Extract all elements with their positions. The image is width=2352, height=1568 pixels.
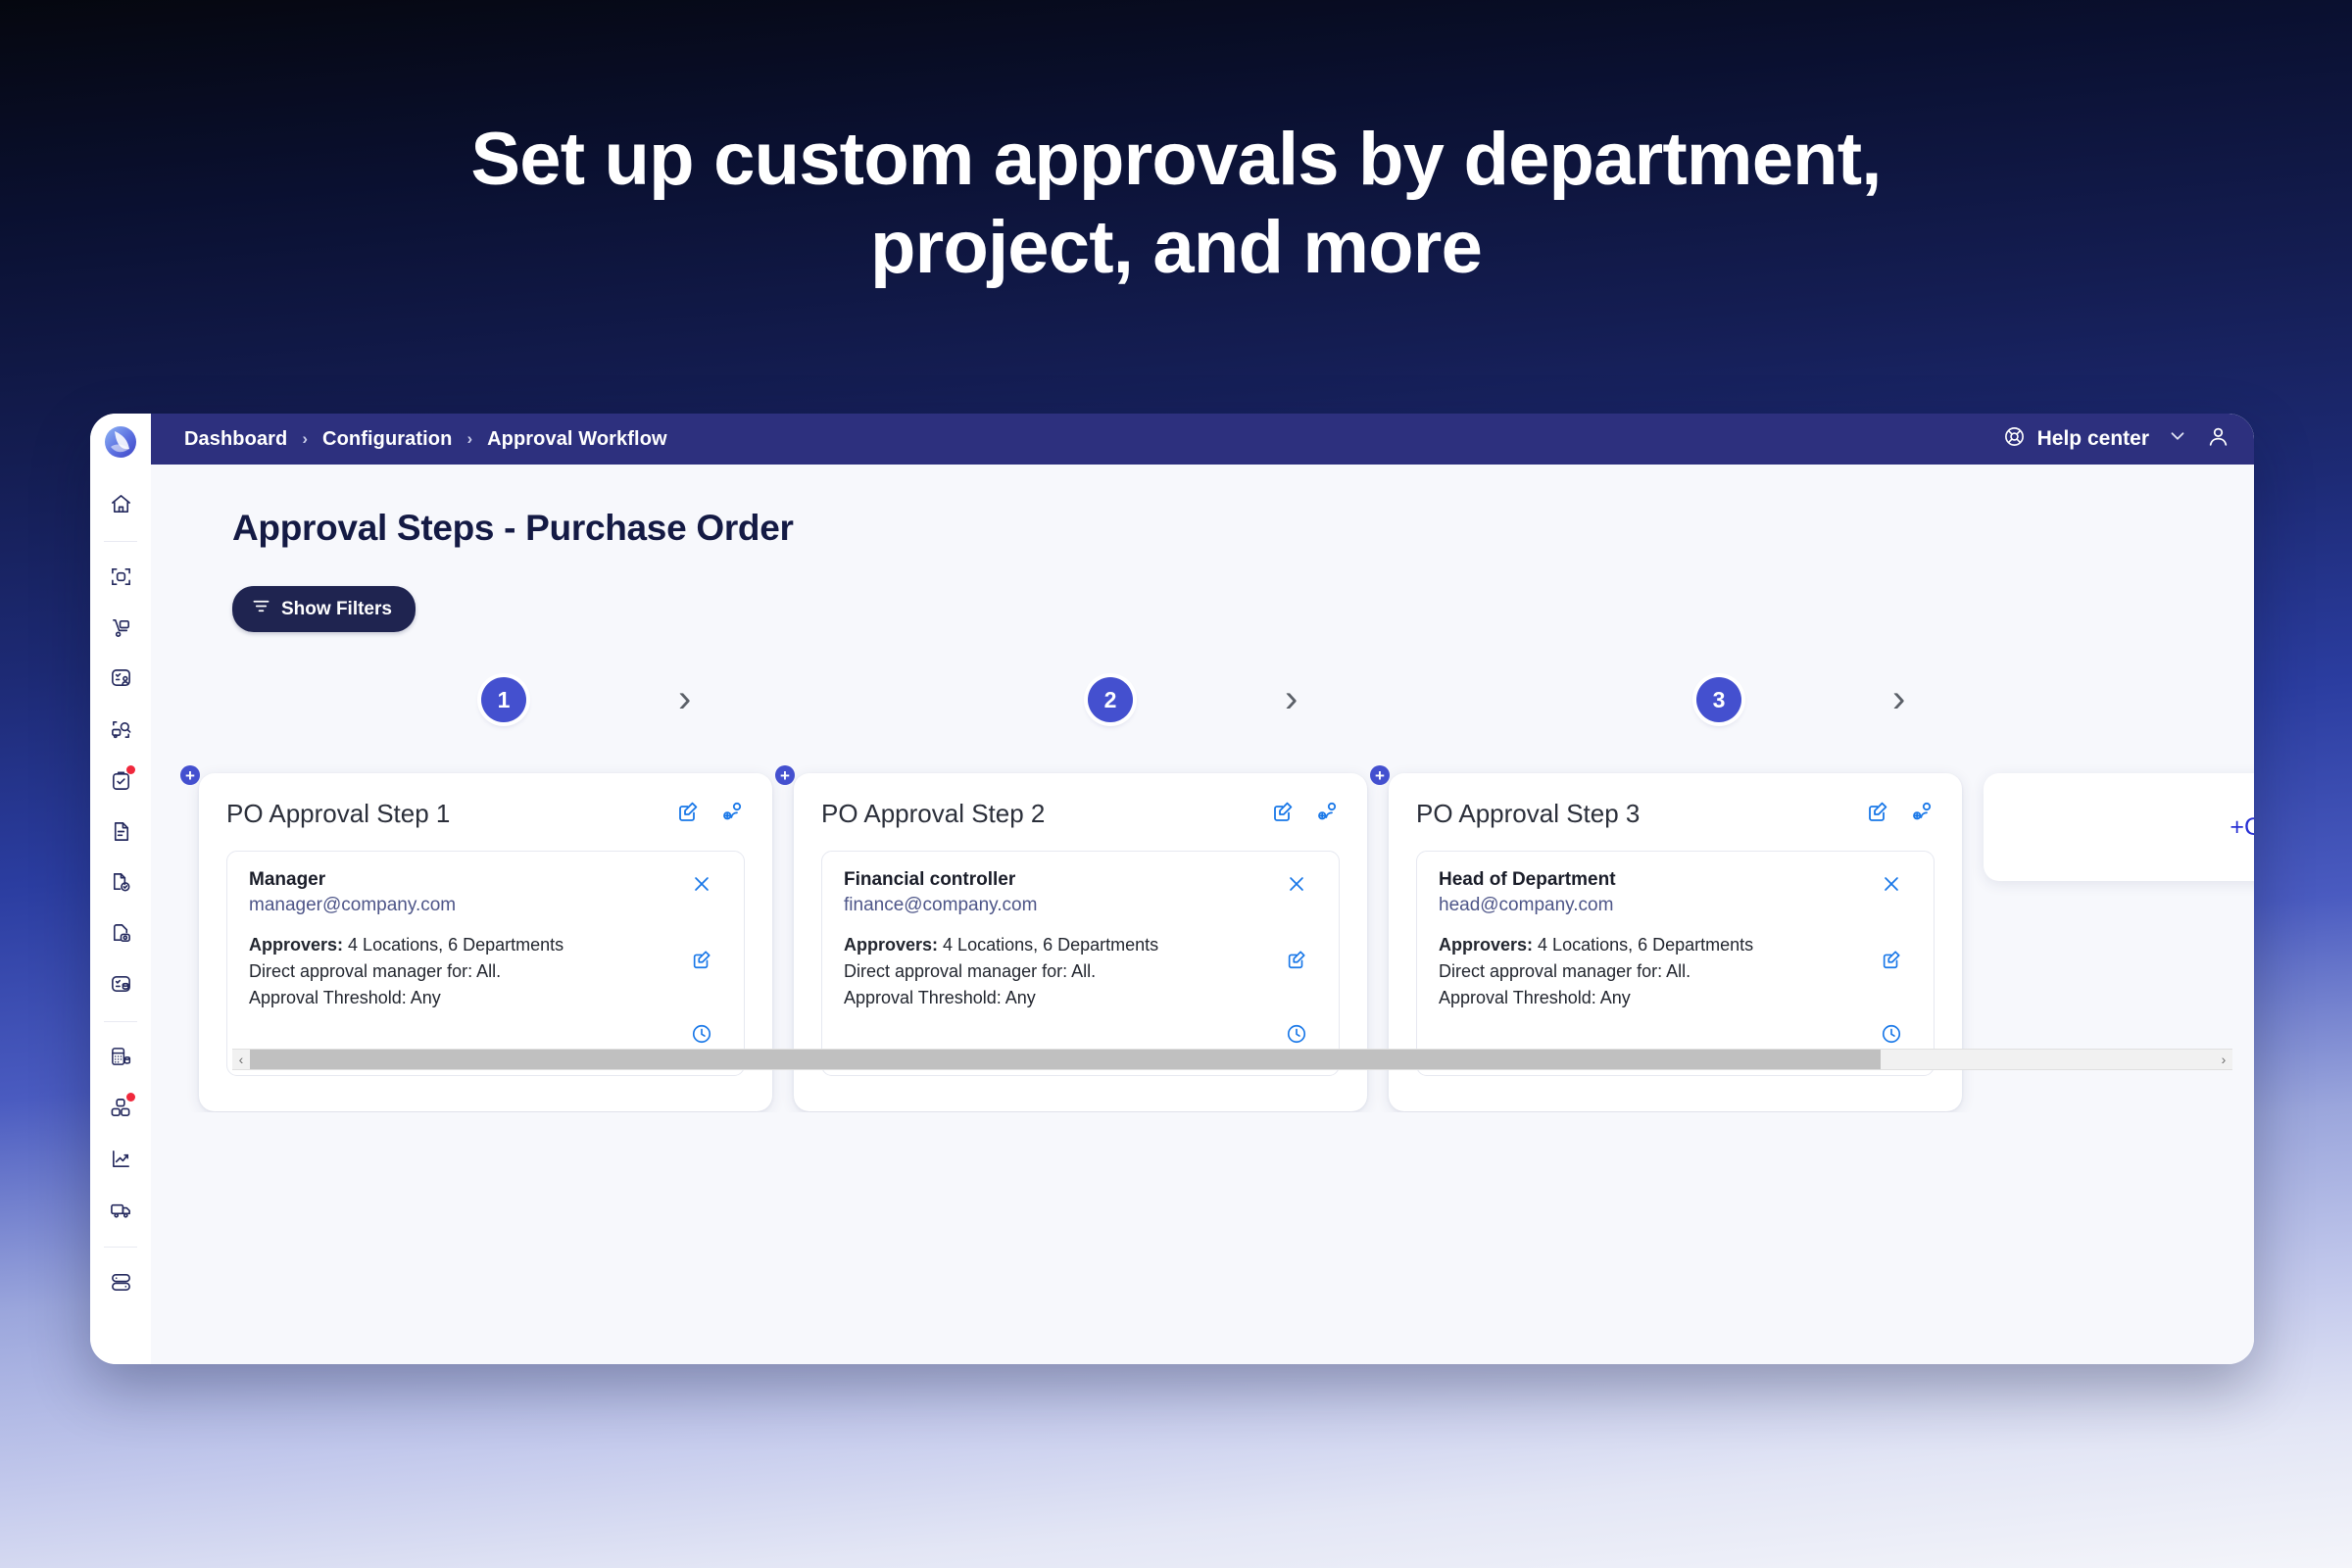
filter-icon [252,597,270,621]
calculator-coins-icon [110,1046,132,1068]
sidebar-item-invoice-money[interactable] [98,910,143,955]
help-center-button[interactable]: Help center [2003,425,2149,454]
document-check-icon [110,871,132,894]
close-icon[interactable] [1286,873,1307,900]
sidebar-item-payment-list[interactable] [98,961,143,1006]
horizontal-scrollbar-wrapper: ‹ › [151,1047,2254,1070]
card-header-actions [1866,800,1935,828]
sidebar-item-server-stack[interactable] [98,1259,143,1304]
direct-approval-line: Direct approval manager for: All. [1439,958,1871,985]
step-arrow-3: › [1892,679,1905,718]
approver-box: Head of Department head@company.com Appr… [1416,851,1935,1076]
approver-details: Head of Department head@company.com Appr… [1439,869,1871,1057]
edit-square-icon[interactable] [676,800,700,828]
clock-icon[interactable] [1286,1023,1307,1050]
close-icon[interactable] [1881,873,1902,900]
top-bar-actions: Help center [2003,424,2230,454]
invoice-money-icon [110,922,132,945]
sidebar-item-calculator-coins[interactable] [98,1034,143,1079]
lifebuoy-icon [2003,425,2026,454]
show-filters-label: Show Filters [281,599,392,620]
document-list-icon [110,820,132,843]
chart-trend-icon [110,1148,132,1170]
hand-truck-icon [110,616,132,639]
add-user-icon[interactable] [1316,800,1340,828]
request-user-icon [110,667,132,690]
approvers-value: 4 Locations, 6 Departments [1538,935,1753,955]
horizontal-scrollbar[interactable]: ‹ › [232,1049,2232,1070]
user-icon[interactable] [2206,424,2230,454]
approver-email: manager@company.com [249,895,681,916]
show-filters-button[interactable]: Show Filters [232,586,416,632]
approver-actions [1276,869,1317,1057]
approvers-line: Approvers: 4 Locations, 6 Departments [1439,932,1871,958]
card-header: PO Approval Step 2 [821,799,1340,829]
sidebar-item-request-user[interactable] [98,656,143,701]
step-badge-3[interactable]: 3 [1696,677,1741,722]
payment-list-icon [110,973,132,996]
sidebar-divider-2 [104,1021,137,1022]
scrollbar-thumb[interactable] [250,1050,1881,1069]
step-indicator-row: 1 › 2 › 3 › [151,654,2254,748]
page-title: Approval Steps - Purchase Order [151,465,2254,549]
approvers-label: Approvers: [1439,935,1533,955]
hero-line-2: project, and more [0,204,2352,292]
top-bar: Dashboard › Configuration › Approval Wor… [151,414,2254,465]
step-arrow-1: › [678,679,691,718]
add-step-marker-3[interactable]: + [1370,765,1390,785]
breadcrumb-separator-icon: › [302,429,308,449]
delivery-truck-icon [110,1199,132,1221]
approver-email: finance@company.com [844,895,1276,916]
step-badge-2[interactable]: 2 [1088,677,1133,722]
home-icon [110,493,132,515]
approvers-label: Approvers: [249,935,343,955]
scan-box-icon [110,565,132,588]
help-center-label: Help center [2037,427,2149,451]
approvers-value: 4 Locations, 6 Departments [348,935,563,955]
approval-threshold-line: Approval Threshold: Any [1439,985,1871,1011]
approvers-label: Approvers: [844,935,938,955]
notification-dot-badge [126,765,135,774]
add-step-marker-2[interactable]: + [775,765,795,785]
sidebar-item-home[interactable] [98,481,143,526]
add-step-marker-1[interactable]: + [180,765,200,785]
breadcrumb-item-dashboard[interactable]: Dashboard [184,428,287,451]
approver-actions [681,869,722,1057]
approvers-value: 4 Locations, 6 Departments [943,935,1158,955]
card-title: PO Approval Step 2 [821,799,1045,829]
hero-line-1: Set up custom approvals by department, [0,116,2352,204]
clock-icon[interactable] [691,1023,712,1050]
sidebar-divider-3 [104,1247,137,1248]
scroll-left-arrow-icon[interactable]: ‹ [232,1052,250,1067]
sidebar-item-delivery-truck[interactable] [98,1187,143,1232]
direct-approval-line: Direct approval manager for: All. [844,958,1276,985]
scroll-right-arrow-icon[interactable]: › [2215,1052,2232,1067]
edit-square-icon[interactable] [1881,949,1902,975]
notification-dot-badge [126,1093,135,1102]
sidebar-item-scan-box[interactable] [98,554,143,599]
approver-name: Head of Department [1439,869,1871,891]
brand-logo-icon[interactable] [101,422,140,462]
step-arrow-2: › [1285,679,1298,718]
approvers-line: Approvers: 4 Locations, 6 Departments [844,932,1276,958]
close-icon[interactable] [691,873,712,900]
approver-box: Manager manager@company.com Approvers: 4… [226,851,745,1076]
edit-square-icon[interactable] [691,949,712,975]
breadcrumb-separator-icon: › [466,429,472,449]
approver-name: Manager [249,869,681,891]
approver-email: head@company.com [1439,895,1871,916]
app-window: Dashboard › Configuration › Approval Wor… [90,414,2254,1364]
hero-headline: Set up custom approvals by department, p… [0,116,2352,291]
sidebar-item-truck-search[interactable] [98,707,143,752]
sidebar-item-hand-truck[interactable] [98,605,143,650]
breadcrumb-item-configuration[interactable]: Configuration [322,428,452,451]
add-user-icon[interactable] [721,800,745,828]
card-header-actions [1271,800,1340,828]
clock-icon[interactable] [1881,1023,1902,1050]
approver-actions [1871,869,1912,1057]
approvers-line: Approvers: 4 Locations, 6 Departments [249,932,681,958]
approver-box: Financial controller finance@company.com… [821,851,1340,1076]
direct-approval-line: Direct approval manager for: All. [249,958,681,985]
edit-square-icon[interactable] [1271,800,1295,828]
card-header: PO Approval Step 1 [226,799,745,829]
main-column: Dashboard › Configuration › Approval Wor… [151,414,2254,1364]
approver-details: Manager manager@company.com Approvers: 4… [249,869,681,1057]
card-header: PO Approval Step 3 [1416,799,1935,829]
sidebar-item-blocks[interactable] [98,1085,143,1130]
edit-square-icon[interactable] [1866,800,1889,828]
add-user-icon[interactable] [1911,800,1935,828]
edit-square-icon[interactable] [1286,949,1307,975]
card-title: PO Approval Step 3 [1416,799,1640,829]
breadcrumb: Dashboard › Configuration › Approval Wor… [184,428,667,451]
next-step-card-partial[interactable]: +C [1984,773,2254,881]
sidebar-item-clipboard-check[interactable] [98,758,143,803]
truck-search-icon [110,718,132,741]
add-card-label: +C [2229,813,2254,842]
approval-threshold-line: Approval Threshold: Any [844,985,1276,1011]
sidebar-item-document-check[interactable] [98,859,143,905]
chevron-down-icon[interactable] [2167,425,2188,453]
server-stack-icon [110,1271,132,1294]
sidebar-item-document-list[interactable] [98,808,143,854]
sidebar-item-chart-trend[interactable] [98,1136,143,1181]
sidebar-divider-1 [104,541,137,542]
breadcrumb-item-approval-workflow[interactable]: Approval Workflow [487,428,667,451]
card-title: PO Approval Step 1 [226,799,450,829]
page-content: Approval Steps - Purchase Order Show Fil… [151,465,2254,1364]
scrollbar-track[interactable] [250,1050,2215,1069]
approver-details: Financial controller finance@company.com… [844,869,1276,1057]
step-badge-1[interactable]: 1 [481,677,526,722]
approval-threshold-line: Approval Threshold: Any [249,985,681,1011]
sidebar [90,414,151,1364]
card-header-actions [676,800,745,828]
approver-name: Financial controller [844,869,1276,891]
